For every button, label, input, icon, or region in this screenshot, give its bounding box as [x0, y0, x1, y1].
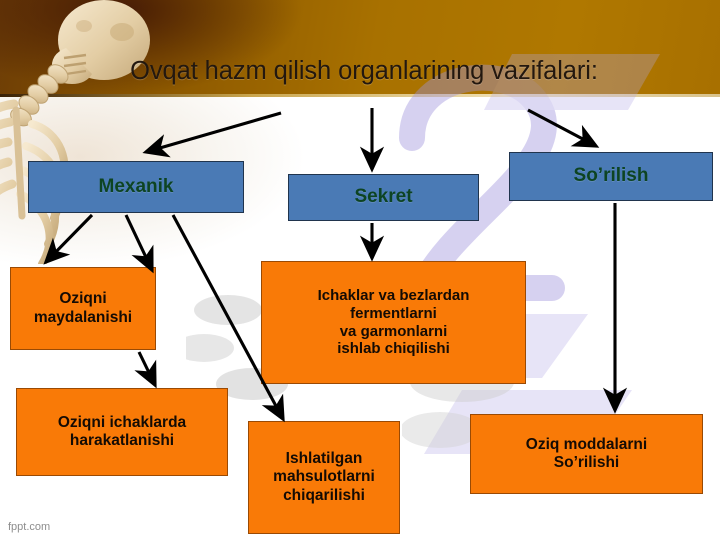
slide-title: Ovqat hazm qilish organlarining vazifala… — [64, 57, 664, 86]
box-oziqni-ichaklarda-harakatlanishi-label: Oziqni ichaklarda harakatlanishi — [58, 414, 186, 450]
box-oziq-moddalarni-sorilishi-label: Oziq moddalarni So’rilishi — [526, 436, 647, 472]
box-ishlatilgan-mahsulotlarni-chiqarilishi-label: Ishlatilgan mahsulotlarni chiqarilishi — [273, 450, 375, 504]
box-oziq-moddalarni-sorilishi[interactable]: Oziq moddalarni So’rilishi — [470, 414, 703, 494]
box-mexanik-label: Mexanik — [99, 176, 174, 198]
fppt-watermark: fppt.com — [8, 521, 50, 533]
box-sorilish-label: So’rilish — [574, 165, 649, 187]
box-sorilish[interactable]: So’rilish — [509, 152, 713, 201]
box-sekret-label: Sekret — [354, 186, 412, 208]
box-oziqni-ichaklarda-harakatlanishi[interactable]: Oziqni ichaklarda harakatlanishi — [16, 388, 228, 476]
box-ichaklar-bezlardan-label: Ichaklar va bezlardan fermentlarni va ga… — [318, 287, 470, 357]
box-ichaklar-bezlardan[interactable]: Ichaklar va bezlardan fermentlarni va ga… — [261, 261, 526, 384]
slide-canvas: Ovqat hazm qilish organlarining vazifala… — [0, 0, 720, 540]
box-ishlatilgan-mahsulotlarni-chiqarilishi[interactable]: Ishlatilgan mahsulotlarni chiqarilishi — [248, 421, 400, 534]
header-divider-line — [0, 94, 720, 97]
box-sekret[interactable]: Sekret — [288, 174, 479, 221]
box-oziqni-maydalanishi-label: Oziqni maydalanishi — [34, 290, 132, 326]
box-oziqni-maydalanishi[interactable]: Oziqni maydalanishi — [10, 267, 156, 350]
box-mexanik[interactable]: Mexanik — [28, 161, 244, 213]
